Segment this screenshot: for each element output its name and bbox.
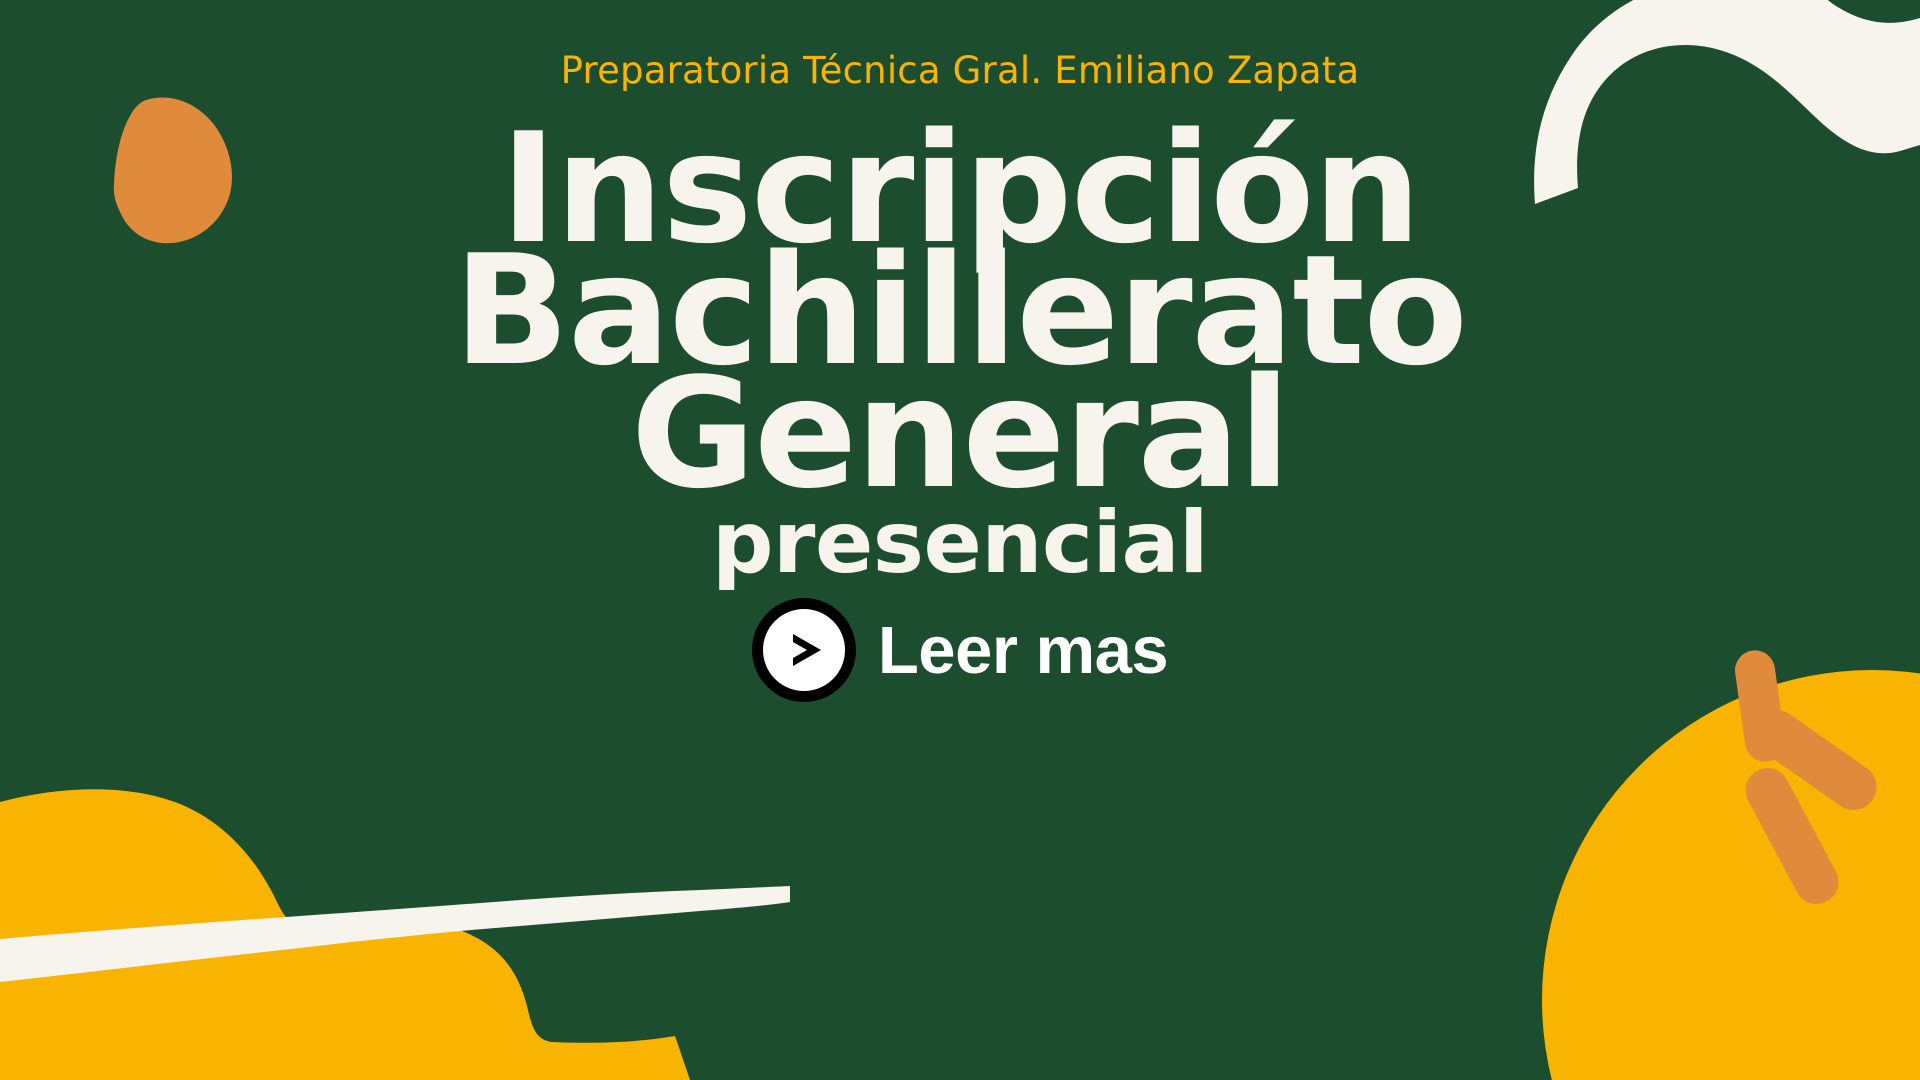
leer-mas-button[interactable]: Leer mas	[752, 598, 1168, 702]
poster-content: Preparatoria Técnica Gral. Emiliano Zapa…	[0, 0, 1920, 1080]
chevron-right-icon[interactable]	[752, 598, 856, 702]
page-title: Inscripción Bachillerato General	[454, 89, 1467, 506]
modality-subhead: presencial	[712, 500, 1208, 586]
headline-line-3: General	[631, 362, 1289, 506]
school-name-kicker: Preparatoria Técnica Gral. Emiliano Zapa…	[561, 52, 1360, 89]
promo-poster: Preparatoria Técnica Gral. Emiliano Zapa…	[0, 0, 1920, 1080]
leer-mas-label: Leer mas	[878, 617, 1168, 684]
